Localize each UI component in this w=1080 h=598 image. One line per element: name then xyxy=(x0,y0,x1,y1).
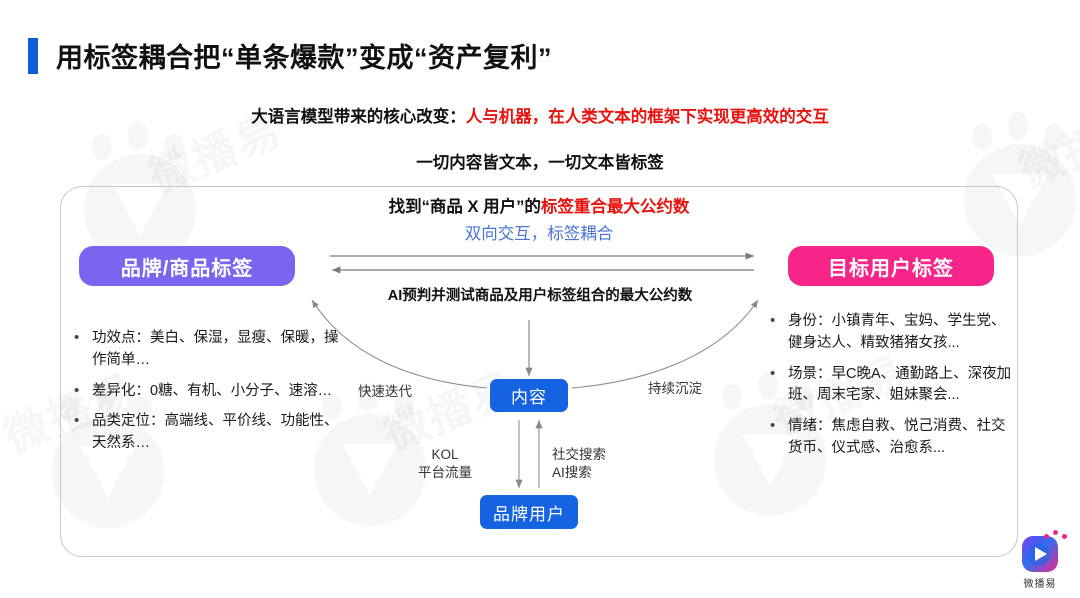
card-heading-red: 标签重合最大公约数 xyxy=(541,198,690,216)
card-heading-secondary: 双向交互，标签耦合 xyxy=(60,220,1018,244)
brand-logo: 微播易 xyxy=(1010,536,1070,590)
label-search-line2: AI搜索 xyxy=(552,464,606,482)
node-brand-user[interactable]: 品牌用户 xyxy=(480,495,578,529)
label-search-line1: 社交搜索 xyxy=(552,446,606,464)
pill-brand-product-tags[interactable]: 品牌/商品标签 xyxy=(79,246,295,286)
pill-target-user-tags[interactable]: 目标用户标签 xyxy=(788,246,994,286)
right-bullet-list: 身份：小镇青年、宝妈、学生党、健身达人、精致猪猪女孩... 场景：早C晚A、通勤… xyxy=(768,311,1018,469)
logo-dot xyxy=(1062,534,1067,539)
subtitle-1-red: 人与机器，在人类文本的框架下实现更高效的交互 xyxy=(466,108,829,126)
label-social-search: 社交搜索 AI搜索 xyxy=(552,446,606,482)
logo-dot xyxy=(1053,530,1058,535)
ai-caption: AI预判并测试商品及用户标签组合的最大公约数 xyxy=(320,284,760,305)
card-heading-black: 找到“商品 X 用户”的 xyxy=(389,198,541,216)
label-kol-traffic: KOL 平台流量 xyxy=(418,446,472,482)
logo-dot xyxy=(1044,534,1049,539)
subtitle-1-black: 大语言模型带来的核心改变： xyxy=(251,108,466,126)
list-item: 品类定位：高端线、平价线、功能性、天然系… xyxy=(92,411,340,455)
label-continuous-deposit: 持续沉淀 xyxy=(648,380,702,398)
play-logo-icon xyxy=(1022,536,1058,572)
left-bullet-list: 功效点：美白、保湿，显瘦、保暖，操作简单… 差异化：0糖、有机、小分子、速溶… … xyxy=(72,328,340,464)
subtitle-line-2: 一切内容皆文本，一切文本皆标签 xyxy=(0,149,1080,173)
list-item: 场景：早C晚A、通勤路上、深夜加班、周末宅家、姐妹聚会... xyxy=(788,364,1018,408)
list-item: 身份：小镇青年、宝妈、学生党、健身达人、精致猪猪女孩... xyxy=(788,311,1018,355)
node-content[interactable]: 内容 xyxy=(490,379,568,412)
label-kol-line2: 平台流量 xyxy=(418,464,472,482)
label-fast-iteration: 快速迭代 xyxy=(358,383,412,401)
subtitle-line-1: 大语言模型带来的核心改变：人与机器，在人类文本的框架下实现更高效的交互 xyxy=(0,103,1080,127)
card-heading-primary: 找到“商品 X 用户”的标签重合最大公约数 xyxy=(60,193,1018,217)
list-item: 功效点：美白、保湿，显瘦、保暖，操作简单… xyxy=(92,328,340,372)
page-title: 用标签耦合把“单条爆款”变成“资产复利” xyxy=(56,36,552,75)
list-item: 差异化：0糖、有机、小分子、速溶… xyxy=(92,381,340,403)
list-item: 情绪：焦虑自救、悦己消费、社交货币、仪式感、治愈系... xyxy=(788,416,1018,460)
title-accent-bar xyxy=(28,38,38,74)
brand-name: 微播易 xyxy=(1010,575,1070,590)
page-header: 用标签耦合把“单条爆款”变成“资产复利” xyxy=(28,36,552,75)
play-triangle-icon xyxy=(1035,547,1047,561)
label-kol-line1: KOL xyxy=(418,446,472,464)
